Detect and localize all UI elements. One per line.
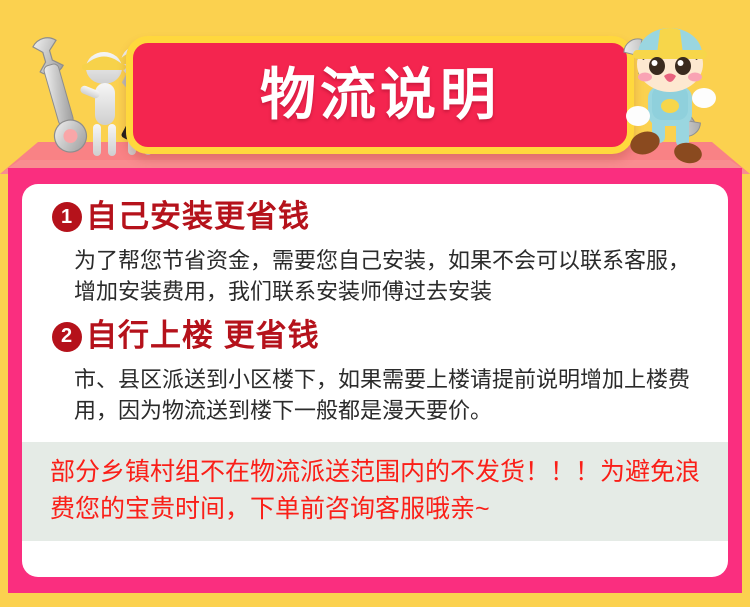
hero-section: 物流说明	[0, 0, 750, 172]
notice-text: 部分乡镇村组不在物流派送范围内的不发货！！！为避免浪费您的宝贵时间，下单前咨询客…	[50, 454, 700, 527]
page-title: 物流说明	[260, 67, 500, 123]
section-heading-text: 自行上楼 更省钱	[86, 317, 320, 356]
notice-strip: 部分乡镇村组不在物流派送范围内的不发货！！！为避免浪费您的宝贵时间，下单前咨询客…	[22, 442, 728, 541]
section-heading: 2 自行上楼 更省钱	[52, 317, 698, 356]
banner-title-box: 物流说明	[126, 36, 634, 154]
mascot-head	[633, 28, 707, 92]
section-number-badge: 2	[52, 322, 82, 352]
pink-frame: 1 自己安装更省钱 为了帮您节省资金，需要您自己安装，如果不会可以联系客服，增加…	[8, 168, 742, 593]
wrench-icon	[27, 34, 90, 156]
content-card: 1 自己安装更省钱 为了帮您节省资金，需要您自己安装，如果不会可以联系客服，增加…	[22, 184, 728, 577]
mascot-illustration	[600, 12, 750, 172]
section-item: 2 自行上楼 更省钱 市、县区派送到小区楼下，如果需要上楼请提前说明增加上楼费用…	[52, 317, 698, 426]
section-body-text: 市、县区派送到小区楼下，如果需要上楼请提前说明增加上楼费用，因为物流送到楼下一般…	[74, 364, 698, 426]
section-item: 1 自己安装更省钱 为了帮您节省资金，需要您自己安装，如果不会可以联系客服，增加…	[52, 198, 698, 307]
logistics-info-banner-page: 物流说明	[0, 0, 750, 607]
section-heading: 1 自己安装更省钱	[52, 198, 698, 237]
sections-list: 1 自己安装更省钱 为了帮您节省资金，需要您自己安装，如果不会可以联系客服，增加…	[22, 184, 728, 432]
section-number-badge: 1	[52, 202, 82, 232]
section-heading-text: 自己安装更省钱	[86, 198, 310, 237]
section-body-text: 为了帮您节省资金，需要您自己安装，如果不会可以联系客服，增加安装费用，我们联系安…	[74, 245, 698, 307]
